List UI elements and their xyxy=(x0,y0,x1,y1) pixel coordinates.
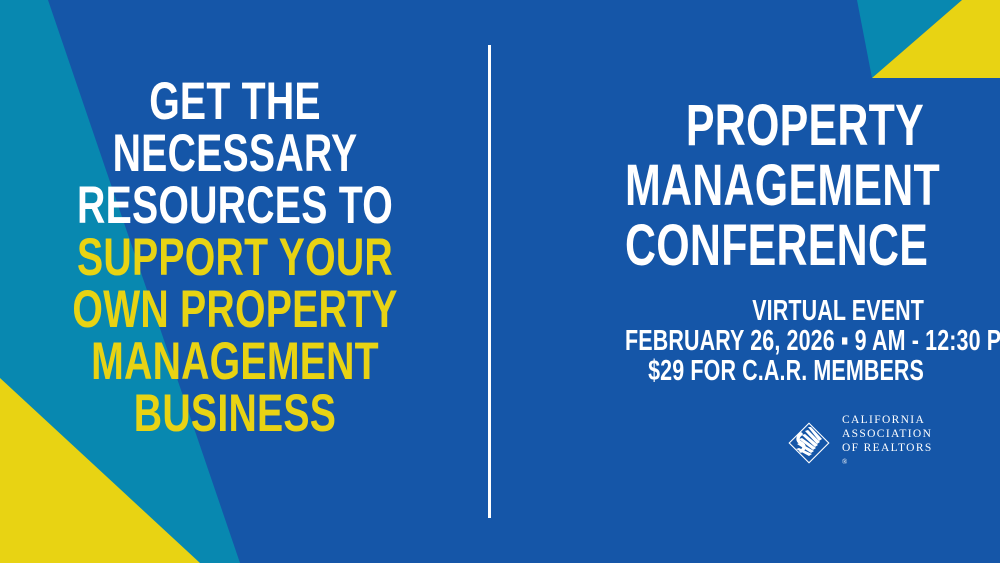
headline-line-4: SUPPORT YOUR xyxy=(61,232,409,284)
logo-line-association: ASSOCIATION xyxy=(842,427,933,441)
logo-line-of-realtors: OF REALTORS® xyxy=(842,441,933,473)
headline-line-6: MANAGEMENT xyxy=(61,336,409,388)
event-title-line-2: MANAGEMENT xyxy=(625,156,924,216)
logo-line-california: CALIFORNIA xyxy=(842,413,933,427)
event-title-line-1: PROPERTY xyxy=(625,96,924,156)
registered-mark: ® xyxy=(842,458,847,466)
headline-line-1: GET THE xyxy=(61,76,409,128)
car-logo: CALIFORNIA ASSOCIATION OF REALTORS® xyxy=(786,416,926,470)
vertical-divider xyxy=(488,45,491,518)
headline-line-3: RESOURCES TO xyxy=(61,180,409,232)
event-datetime: FEBRUARY 26, 2026 ▪ 9 AM - 12:30 PM xyxy=(625,326,924,356)
logo-line-of-realtors-text: OF REALTORS xyxy=(842,441,933,455)
event-details: VIRTUAL EVENT FEBRUARY 26, 2026 ▪ 9 AM -… xyxy=(520,296,924,386)
headline-line-7: BUSINESS xyxy=(61,388,409,440)
left-headline: GET THE NECESSARY RESOURCES TO SUPPORT Y… xyxy=(0,76,470,440)
event-title-line-3: CONFERENCE xyxy=(625,216,924,276)
event-format: VIRTUAL EVENT xyxy=(625,296,924,326)
event-poster: GET THE NECESSARY RESOURCES TO SUPPORT Y… xyxy=(0,0,1000,563)
car-logo-text: CALIFORNIA ASSOCIATION OF REALTORS® xyxy=(842,413,933,473)
headline-line-2: NECESSARY xyxy=(61,128,409,180)
car-diamond-logo-icon xyxy=(786,420,832,466)
event-price: $29 FOR C.A.R. MEMBERS xyxy=(625,356,924,386)
headline-line-5: OWN PROPERTY xyxy=(61,284,409,336)
event-info-block: PROPERTY MANAGEMENT CONFERENCE VIRTUAL E… xyxy=(520,96,924,386)
